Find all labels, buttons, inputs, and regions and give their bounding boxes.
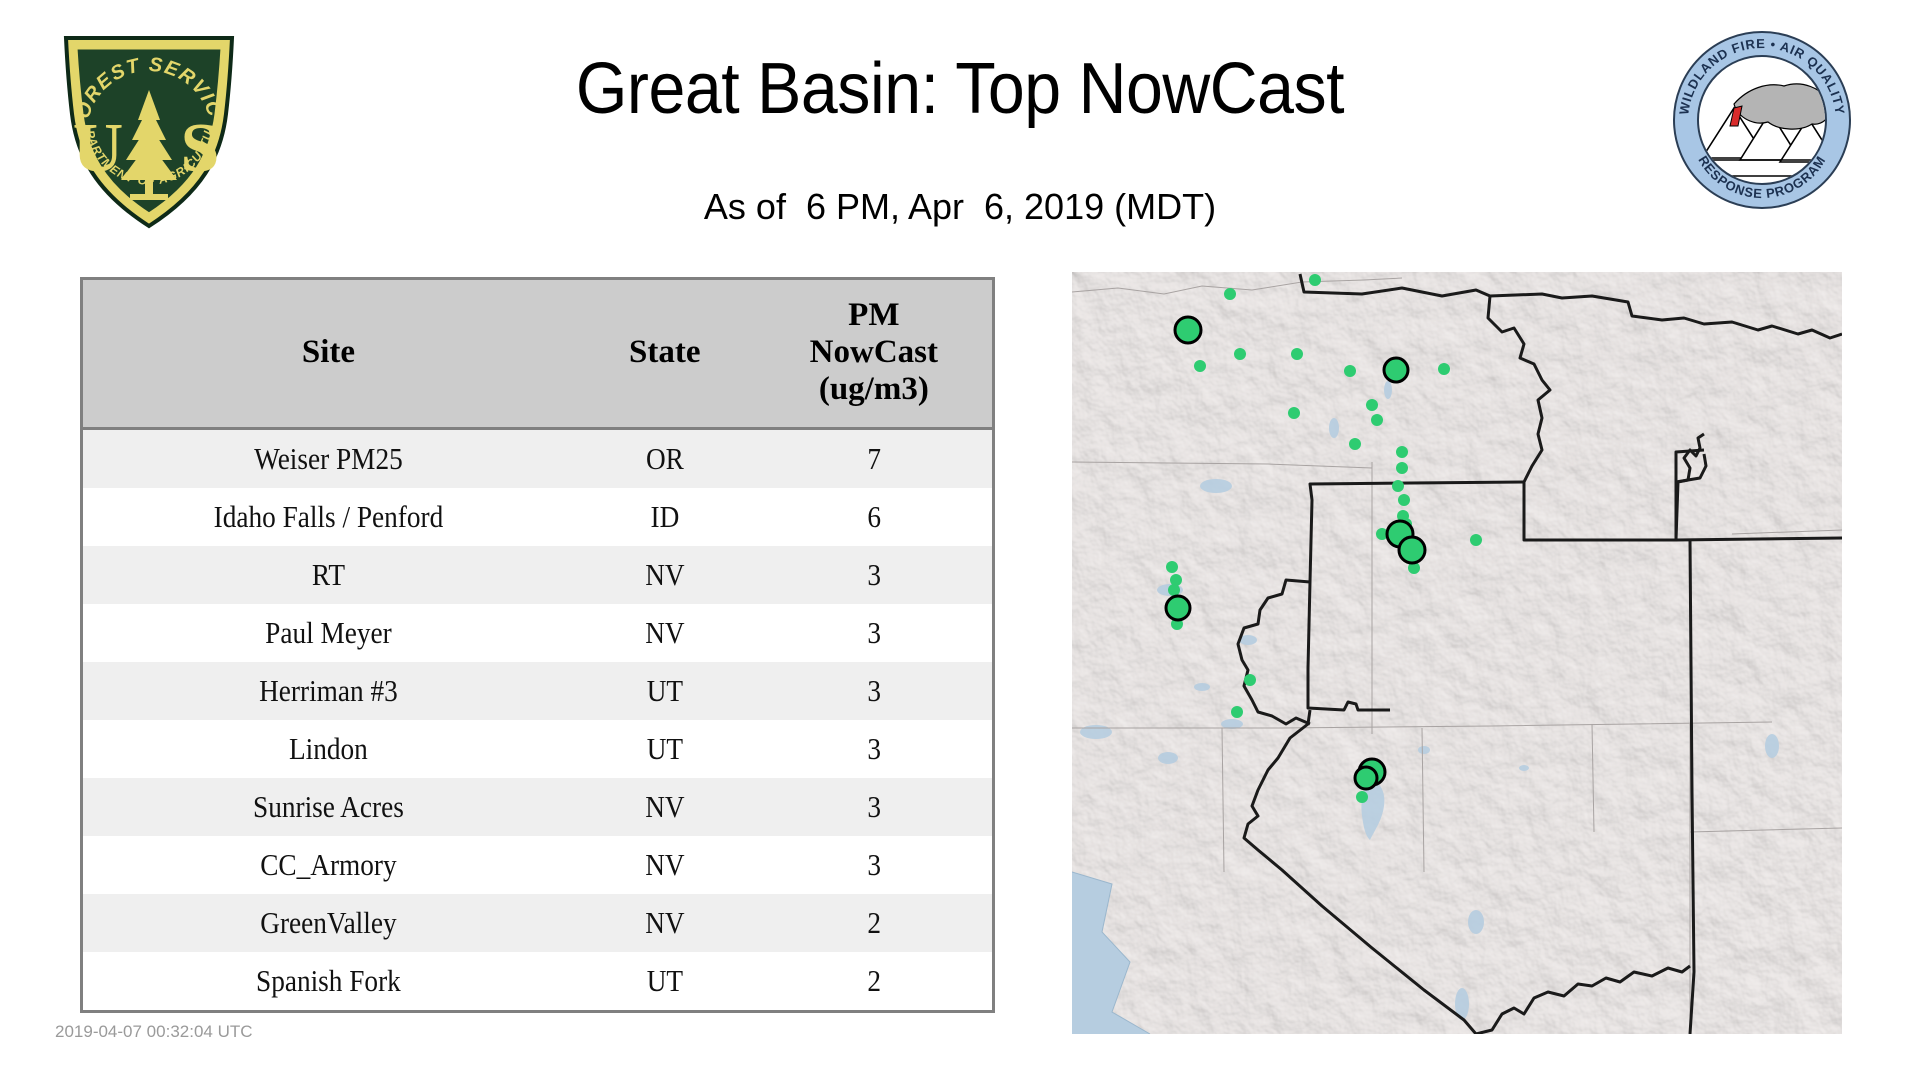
map-monitor-marker	[1291, 348, 1303, 360]
map-top-site-marker[interactable]	[1355, 767, 1377, 789]
map-monitor-marker	[1224, 288, 1236, 300]
map-monitor-marker	[1168, 584, 1180, 596]
table-cell-site: Lindon	[112, 720, 544, 778]
map-svg[interactable]	[1072, 272, 1842, 1034]
table-cell-state: UT	[585, 952, 745, 1010]
map-monitor-marker	[1396, 462, 1408, 474]
table-cell-state: UT	[585, 720, 745, 778]
table-cell-site: Spanish Fork	[112, 952, 544, 1010]
map-monitor-marker	[1244, 674, 1256, 686]
table-cell-site: GreenValley	[112, 894, 544, 952]
table-row: Weiser PM25OR7	[83, 429, 992, 489]
table-cell-site: CC_Armory	[112, 836, 544, 894]
table-cell-value: 3	[770, 546, 978, 604]
map-monitor-marker	[1309, 274, 1321, 286]
table-cell-state: NV	[585, 836, 745, 894]
column-header-state-label: State	[629, 334, 700, 370]
page-subtitle: As of 6 PM, Apr 6, 2019 (MDT)	[0, 186, 1920, 228]
map-monitor-marker	[1234, 348, 1246, 360]
table-cell-value: 3	[770, 778, 978, 836]
column-header-site-label: Site	[302, 334, 355, 370]
site-table: Site State PM NowCast (ug/m3) Weiser PM2…	[83, 280, 992, 1010]
map-monitor-marker	[1194, 360, 1206, 372]
table-row: RTNV3	[83, 546, 992, 604]
table-body: Weiser PM25OR7Idaho Falls / PenfordID6RT…	[83, 429, 992, 1011]
table-cell-site: Paul Meyer	[112, 604, 544, 662]
map-monitor-marker	[1396, 446, 1408, 458]
table-cell-value: 6	[770, 488, 978, 546]
table-cell-value: 7	[770, 429, 978, 489]
map-monitor-marker	[1170, 574, 1182, 586]
column-header-site: Site	[83, 280, 574, 429]
table-cell-state: NV	[585, 604, 745, 662]
map-monitor-marker	[1470, 534, 1482, 546]
table-cell-state: OR	[585, 429, 745, 489]
table-cell-value: 3	[770, 662, 978, 720]
table-cell-value: 2	[770, 894, 978, 952]
table-cell-value: 3	[770, 836, 978, 894]
table-cell-site: Idaho Falls / Penford	[112, 488, 544, 546]
column-header-pm-nowcast: PM NowCast (ug/m3)	[756, 280, 992, 429]
map-monitor-marker	[1371, 414, 1383, 426]
map-monitor-marker	[1392, 480, 1404, 492]
table-cell-value: 3	[770, 720, 978, 778]
map-monitor-marker	[1356, 791, 1368, 803]
map-monitor-marker	[1438, 363, 1450, 375]
table-cell-state: UT	[585, 662, 745, 720]
map-monitor-marker	[1349, 438, 1361, 450]
table-row: CC_ArmoryNV3	[83, 836, 992, 894]
table-cell-state: ID	[585, 488, 745, 546]
map-monitor-marker	[1231, 706, 1243, 718]
map-top-site-marker[interactable]	[1166, 596, 1190, 620]
table-cell-site: Weiser PM25	[112, 429, 544, 489]
table-cell-value: 3	[770, 604, 978, 662]
table-row: Sunrise AcresNV3	[83, 778, 992, 836]
table-cell-site: RT	[112, 546, 544, 604]
map-terrain-relief	[1072, 272, 1842, 1034]
table-cell-state: NV	[585, 546, 745, 604]
footer-timestamp: 2019-04-07 00:32:04 UTC	[55, 1022, 253, 1042]
table-cell-state: NV	[585, 894, 745, 952]
table-cell-state: NV	[585, 778, 745, 836]
table-row: Idaho Falls / PenfordID6	[83, 488, 992, 546]
table-row: Paul MeyerNV3	[83, 604, 992, 662]
table-row: Spanish ForkUT2	[83, 952, 992, 1010]
table-row: Herriman #3UT3	[83, 662, 992, 720]
map-top-site-marker[interactable]	[1399, 537, 1425, 563]
table-row: GreenValleyNV2	[83, 894, 992, 952]
table-cell-value: 2	[770, 952, 978, 1010]
map-monitor-marker	[1398, 494, 1410, 506]
column-header-state: State	[574, 280, 756, 429]
map-monitor-marker	[1288, 407, 1300, 419]
map-monitor-marker	[1344, 365, 1356, 377]
table-cell-site: Sunrise Acres	[112, 778, 544, 836]
table-header-row: Site State PM NowCast (ug/m3)	[83, 280, 992, 429]
column-header-pm-line3: (ug/m3)	[819, 371, 929, 407]
map-top-site-marker[interactable]	[1384, 358, 1408, 382]
column-header-pm-line1: PM	[848, 297, 899, 333]
table-cell-site: Herriman #3	[112, 662, 544, 720]
column-header-pm-line2: NowCast	[810, 334, 938, 370]
page-title: Great Basin: Top NowCast	[77, 52, 1843, 128]
site-table-container: Site State PM NowCast (ug/m3) Weiser PM2…	[80, 277, 995, 1013]
map-monitor-marker	[1366, 399, 1378, 411]
map-panel[interactable]	[1072, 272, 1842, 1034]
table-row: LindonUT3	[83, 720, 992, 778]
map-monitor-marker	[1166, 561, 1178, 573]
map-top-site-marker[interactable]	[1175, 317, 1201, 343]
table-header: Site State PM NowCast (ug/m3)	[83, 280, 992, 429]
